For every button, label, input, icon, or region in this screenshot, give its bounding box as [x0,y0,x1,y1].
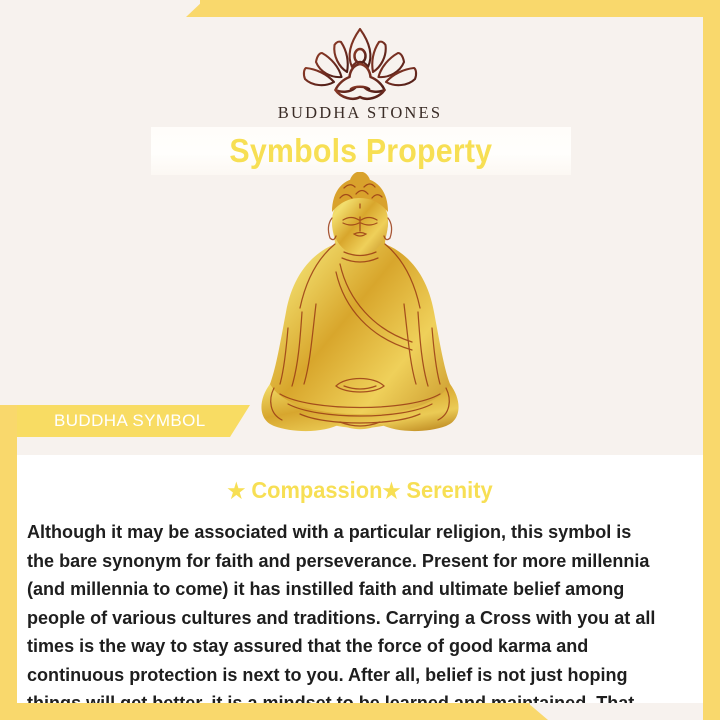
frame-top-left-diagonal [186,0,204,17]
poster-stage: BUDDHA STONES Symbols Property [17,17,703,703]
content-card: ★ Compassion★ Serenity Although it may b… [17,455,703,703]
hero-tag: BUDDHA SYMBOL [17,405,250,437]
content-paragraph: Although it may be associated with a par… [27,518,659,703]
brand-name: BUDDHA STONES [278,103,442,123]
subtitle-word-compassion: Compassion [251,477,382,503]
frame-right-bar [703,0,720,720]
frame-bottom-bar [0,703,530,720]
subtitle-word-serenity: Serenity [406,477,492,503]
brand-block: BUDDHA STONES [17,25,703,123]
title-banner: Symbols Property [151,127,571,175]
poster-root: BUDDHA STONES Symbols Property [0,0,720,720]
seated-buddha-illustration [240,172,480,447]
page-title: Symbols Property [230,132,493,170]
frame-bottom-right-diagonal [528,703,548,720]
frame-left-bar [0,405,17,720]
content-subtitle: ★ Compassion★ Serenity [34,477,686,504]
hero-tag-label: BUDDHA SYMBOL [54,411,206,431]
star-icon-left: ★ [227,480,245,503]
star-icon-right: ★ [382,480,400,503]
lotus-meditation-icon [285,25,435,101]
frame-top-bar [200,0,720,17]
